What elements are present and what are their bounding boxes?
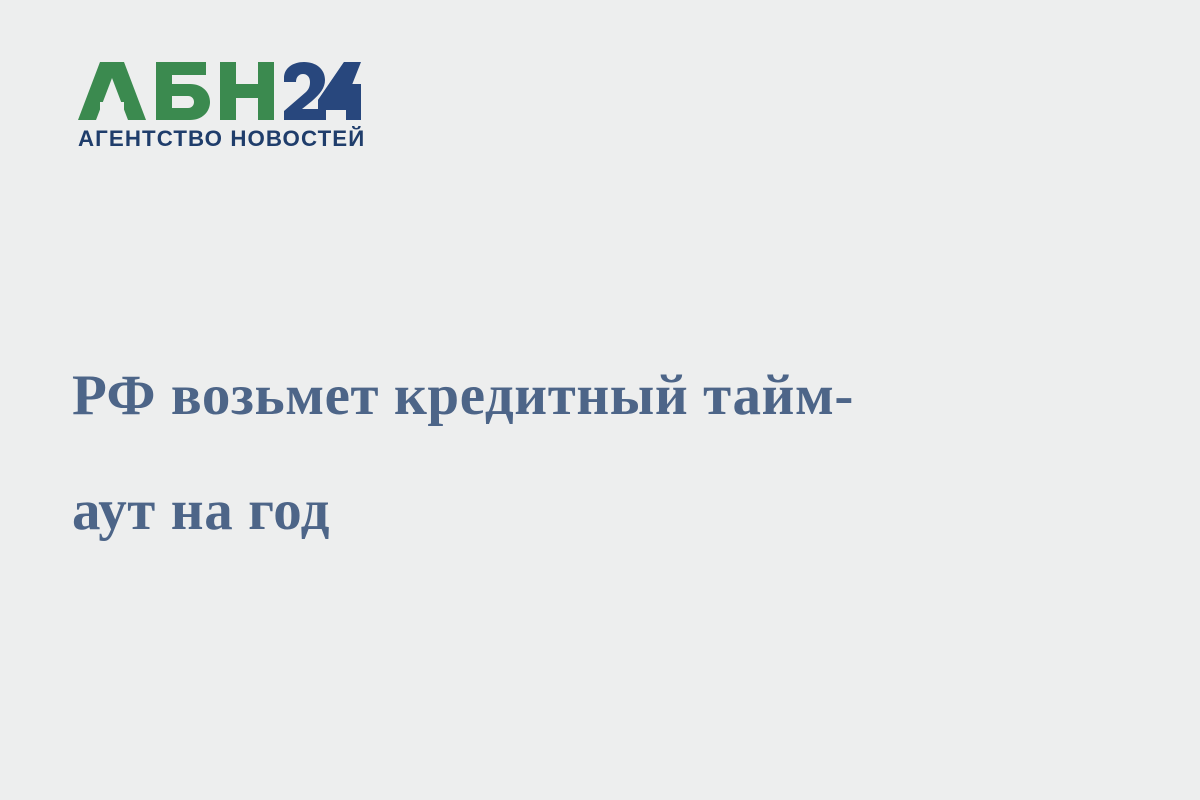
page-title: РФ возьмет кредитный тайм-аут на год [72, 338, 872, 568]
brand-tagline: АГЕНТСТВО НОВОСТЕЙ [78, 126, 375, 152]
chart-bar-3 [1078, 289, 1144, 713]
brand-logo-icon [78, 62, 361, 120]
news-cover-card: АГЕНТСТВО НОВОСТЕЙ РФ возьмет кредитный … [0, 0, 1200, 800]
brand-logo[interactable]: АГЕНТСТВО НОВОСТЕЙ [78, 62, 378, 152]
chart-bar-2 [994, 231, 1061, 800]
chart-bar-1 [911, 152, 977, 626]
